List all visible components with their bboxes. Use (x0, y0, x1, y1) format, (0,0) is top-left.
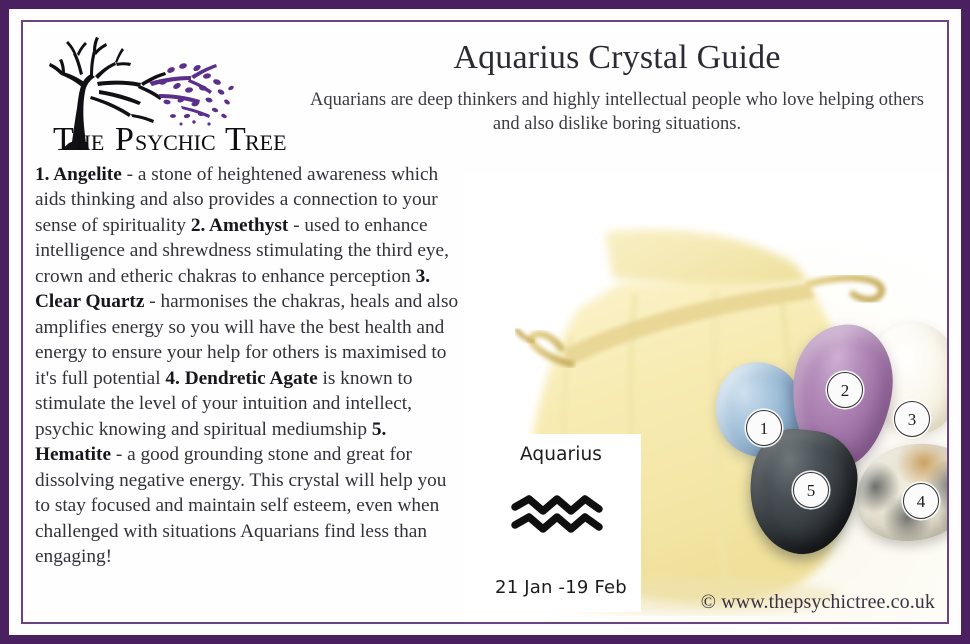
page-subtitle: Aquarians are deep thinkers and highly i… (309, 89, 925, 136)
marker-3: 3 (894, 401, 930, 437)
stone-name-2: 2. Amethyst (191, 215, 288, 236)
logo-word-tree: REE (245, 130, 287, 155)
windswept-tree-icon: T HE P SYCHIC T REE (31, 30, 299, 158)
marker-4: 4 (903, 483, 939, 519)
marker-2: 2 (827, 372, 863, 408)
stone-sep-3: - (144, 291, 160, 312)
list-item: 5. Hematite - a good grounding stone and… (35, 419, 446, 567)
page-title: Aquarius Crystal Guide (293, 38, 941, 77)
poster-page: T HE P SYCHIC T REE Aquarius Crystal Gui… (0, 0, 970, 644)
stone-name-4: 4. Dendretic Agate (165, 368, 317, 389)
logo-word-psychic-p: P (115, 121, 134, 158)
stone-sep-2: - (288, 215, 304, 236)
stone-sep-5: - (111, 444, 127, 465)
logo-word-the-t: T (53, 121, 74, 158)
logo-word-tree-t: T (225, 121, 246, 158)
stone-sep-1: - (122, 164, 138, 185)
stone-name-1: 1. Angelite (35, 164, 122, 185)
website-url[interactable]: © www.thepsychictree.co.uk (701, 591, 935, 614)
marker-5: 5 (793, 472, 829, 508)
marker-1: 1 (746, 410, 782, 446)
brand-logo[interactable]: T HE P SYCHIC T REE (31, 30, 299, 158)
crystal-description-list: 1. Angelite - a stone of heightened awar… (35, 162, 459, 570)
zodiac-date-range: 21 Jan -19 Feb (481, 577, 641, 598)
inner-purple-rule: T HE P SYCHIC T REE Aquarius Crystal Gui… (21, 20, 949, 624)
zodiac-sign-name: Aquarius (481, 444, 641, 465)
logo-word-psychic: SYCHIC (135, 130, 216, 155)
header-block: Aquarius Crystal Guide Aquarians are dee… (293, 30, 941, 136)
crystal-product-photo: 1 2 3 4 5 Aquarius 21 Jan -19 Feb (463, 172, 949, 624)
aquarius-waves-icon (481, 491, 641, 539)
zodiac-card: Aquarius 21 Jan -19 Feb (481, 434, 641, 612)
logo-word-he: HE (75, 130, 104, 155)
